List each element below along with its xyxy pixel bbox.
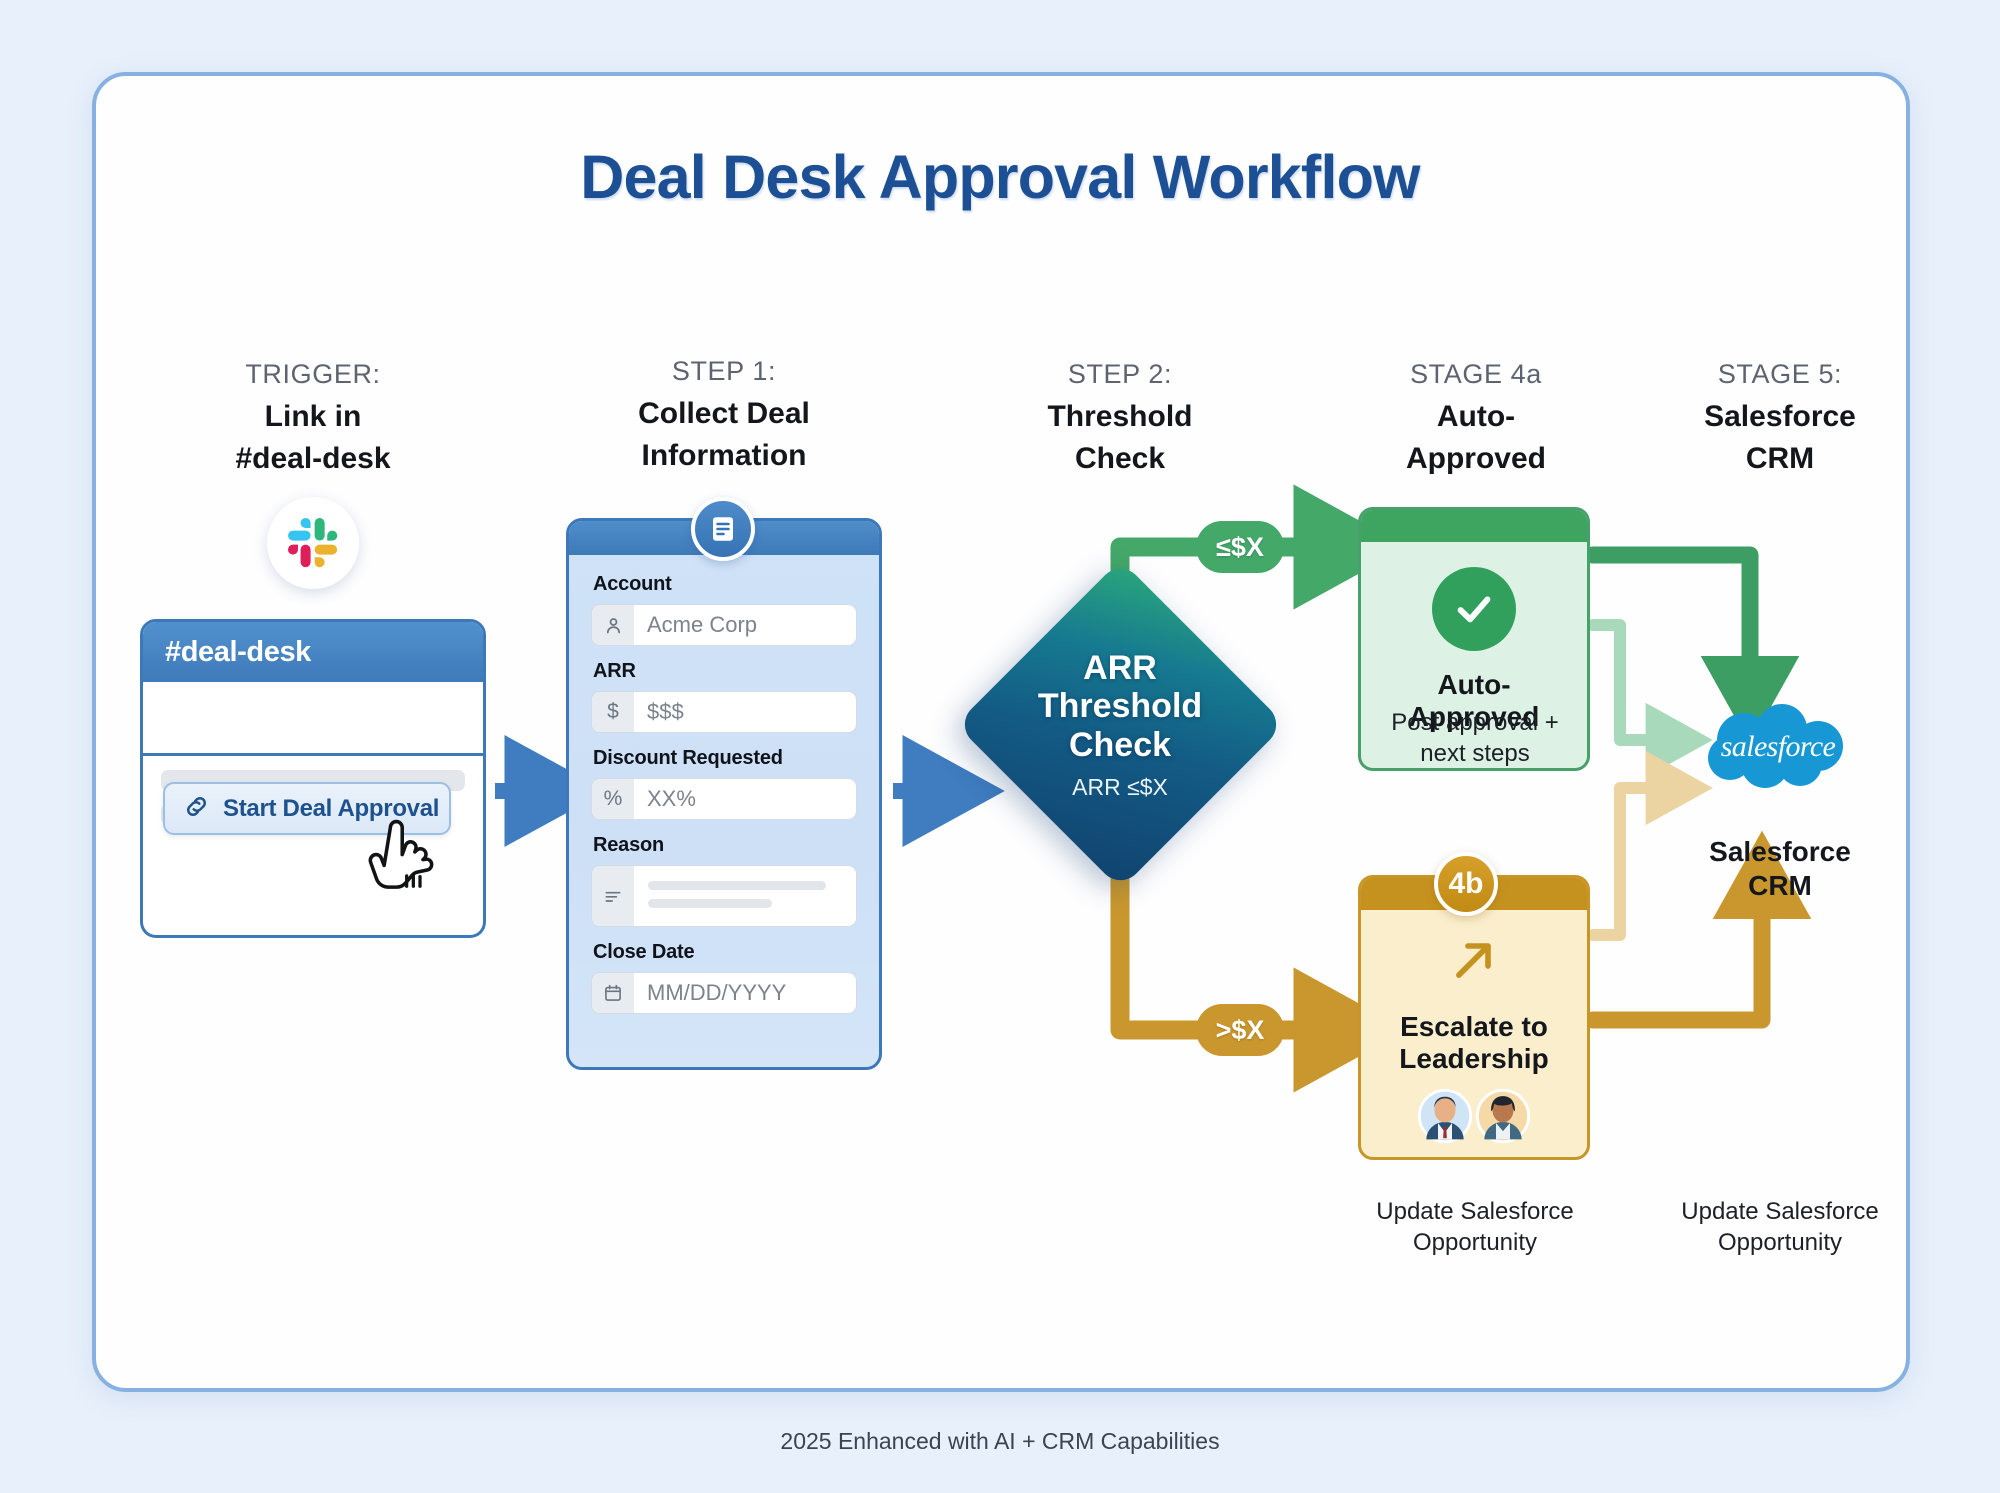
card-accent-bar bbox=[1361, 510, 1587, 542]
reason-placeholder bbox=[634, 866, 856, 926]
pointing-hand-cursor-icon bbox=[364, 818, 436, 904]
account-value: Acme Corp bbox=[634, 605, 757, 645]
column-header-stage5: STAGE 5: Salesforce CRM bbox=[1600, 358, 1960, 477]
field-label-close-date: Close Date bbox=[593, 941, 857, 964]
column-header-step2: STEP 2: Threshold Check bbox=[940, 358, 1300, 477]
diagram-canvas: Deal Desk Approval Workflow bbox=[0, 0, 2000, 1493]
slack-channel-header: #deal-desk bbox=[143, 622, 483, 682]
field-label-discount: Discount Requested bbox=[593, 747, 857, 770]
column-name-line2: #deal-desk bbox=[133, 441, 493, 476]
footer-note: 2025 Enhanced with AI + CRM Capabilities bbox=[0, 1428, 2000, 1455]
businesswoman-avatar bbox=[1475, 1088, 1531, 1144]
escalate-to-leadership-card: Escalate to Leadership bbox=[1358, 875, 1590, 1160]
link-icon bbox=[183, 793, 210, 825]
check-circle-icon bbox=[1432, 567, 1516, 651]
column-name-line1: Salesforce bbox=[1600, 399, 1960, 434]
field-label-arr: ARR bbox=[593, 660, 857, 683]
column-name-line2: CRM bbox=[1600, 441, 1960, 476]
column-name-line1: Link in bbox=[133, 399, 493, 434]
column-kicker: TRIGGER: bbox=[133, 358, 493, 392]
caption-line2: Opportunity bbox=[1330, 1227, 1620, 1258]
caption-line2: Opportunity bbox=[1640, 1227, 1920, 1258]
column-kicker: STAGE 5: bbox=[1600, 358, 1960, 392]
decision-shape bbox=[955, 560, 1285, 890]
discount-field[interactable]: % XX% bbox=[591, 778, 857, 820]
column-name-line1: Threshold bbox=[940, 399, 1300, 434]
salesforce-wordmark: salesforce bbox=[1721, 730, 1836, 763]
escalate-line2: Leadership bbox=[1399, 1043, 1548, 1075]
arr-value: $$$ bbox=[634, 692, 684, 732]
stage-4b-label: 4b bbox=[1448, 867, 1483, 901]
percent-icon: % bbox=[592, 779, 634, 819]
slack-icon bbox=[267, 497, 359, 589]
deal-information-form: Account Acme Corp ARR $ $$$ Discount Req… bbox=[566, 518, 882, 1070]
column-header-trigger: TRIGGER: Link in #deal-desk bbox=[133, 358, 493, 477]
caption-line1: Post approval + bbox=[1330, 707, 1620, 738]
stage-4b-badge: 4b bbox=[1434, 852, 1498, 916]
caption-line1: Update Salesforce bbox=[1640, 1196, 1920, 1227]
salesforce-label-line2: CRM bbox=[1640, 869, 1920, 903]
auto-approved-caption: Post approval + next steps bbox=[1330, 707, 1620, 769]
lines-icon bbox=[592, 866, 634, 926]
leadership-avatars bbox=[1417, 1088, 1531, 1144]
escalate-label: Escalate to Leadership bbox=[1399, 1011, 1548, 1076]
person-icon bbox=[592, 605, 634, 645]
field-label-account: Account bbox=[593, 573, 857, 596]
reason-field[interactable] bbox=[591, 865, 857, 927]
column-kicker: STEP 2: bbox=[940, 358, 1300, 392]
column-name-line2: Information bbox=[544, 438, 904, 473]
slack-channel-card: #deal-desk bbox=[140, 619, 486, 756]
arrow-up-right-icon bbox=[1446, 932, 1502, 993]
arr-threshold-decision: ARR Threshold Check ARR ≤$X bbox=[955, 560, 1285, 890]
calendar-icon bbox=[592, 973, 634, 1013]
caption-line2: next steps bbox=[1330, 738, 1620, 769]
businessman-avatar bbox=[1417, 1088, 1473, 1144]
column-kicker: STEP 1: bbox=[544, 355, 904, 389]
arr-field[interactable]: $ $$$ bbox=[591, 691, 857, 733]
document-icon bbox=[691, 497, 755, 561]
column-header-step1: STEP 1: Collect Deal Information bbox=[544, 355, 904, 474]
close-date-field[interactable]: MM/DD/YYYY bbox=[591, 972, 857, 1014]
caption-line1: Update Salesforce bbox=[1330, 1196, 1620, 1227]
page-title: Deal Desk Approval Workflow bbox=[0, 142, 2000, 212]
discount-value: XX% bbox=[634, 779, 696, 819]
escalate-line1: Escalate to bbox=[1399, 1011, 1548, 1043]
salesforce-cloud-icon: salesforce bbox=[1690, 700, 1866, 794]
column-name-line1: Collect Deal bbox=[544, 396, 904, 431]
auto-approved-line1: Auto- bbox=[1409, 669, 1540, 701]
dollar-icon: $ bbox=[592, 692, 634, 732]
salesforce-label-line1: Salesforce bbox=[1640, 835, 1920, 869]
column-name-line2: Check bbox=[940, 441, 1300, 476]
account-field[interactable]: Acme Corp bbox=[591, 604, 857, 646]
field-label-reason: Reason bbox=[593, 834, 857, 857]
salesforce-crm-label: Salesforce CRM bbox=[1640, 835, 1920, 902]
close-date-value: MM/DD/YYYY bbox=[634, 973, 786, 1013]
crm-caption: Update Salesforce Opportunity bbox=[1640, 1196, 1920, 1258]
escalate-caption: Update Salesforce Opportunity bbox=[1330, 1196, 1620, 1258]
branch-label-escalate: >$X bbox=[1196, 1004, 1284, 1056]
slack-channel-name: #deal-desk bbox=[165, 636, 311, 669]
